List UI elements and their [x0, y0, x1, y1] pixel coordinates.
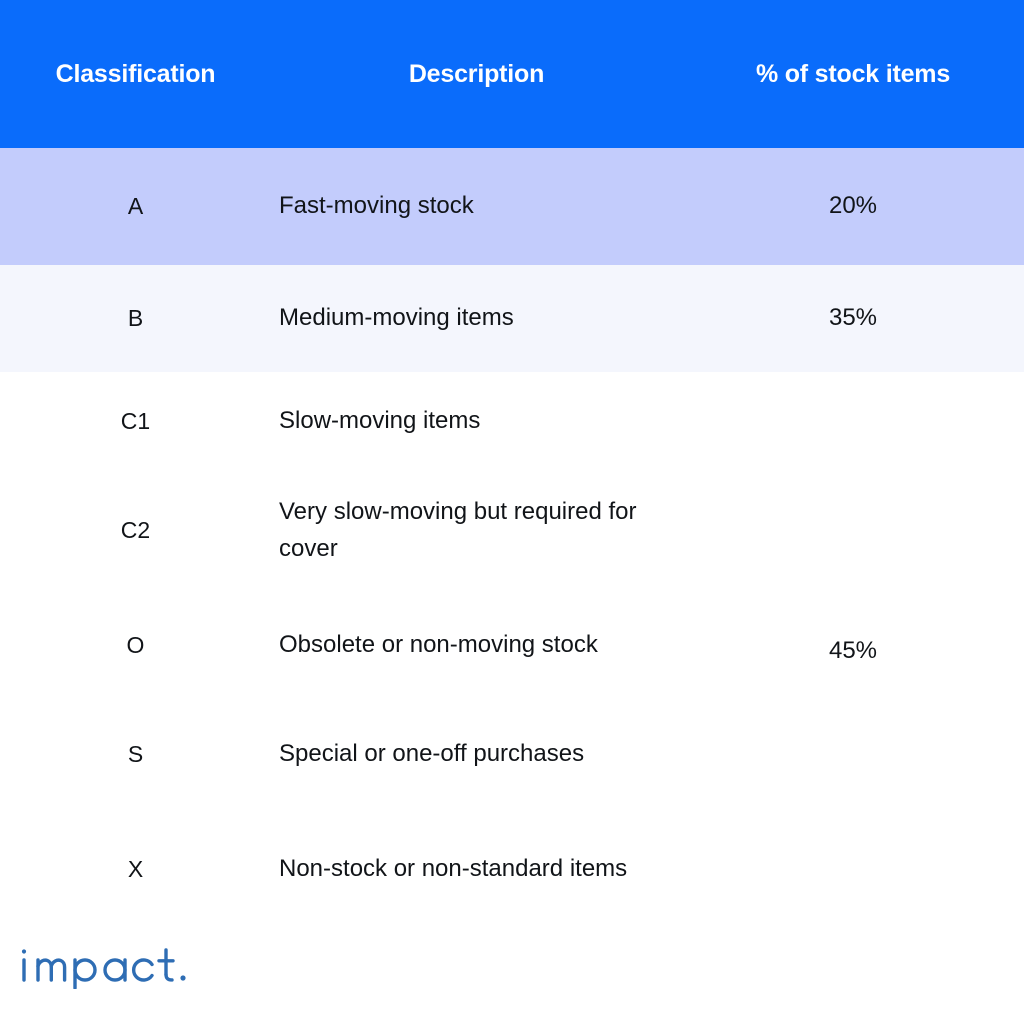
impact-logo [20, 943, 190, 989]
cell-description: Fast-moving stock [271, 188, 682, 224]
column-header-percent-of-stock-items: % of stock items [682, 60, 1024, 89]
cell-description-text: Very slow-moving but required for cover [279, 494, 669, 567]
cell-classification: S [0, 737, 271, 772]
table-header-row: Classification Description % of stock it… [0, 0, 1024, 148]
cell-percent: 20% [682, 188, 1024, 224]
cell-classification: A [0, 189, 271, 224]
impact-logo-period [180, 975, 185, 980]
cell-description-text: Non-stock or non-standard items [279, 851, 669, 887]
cell-percent-merged: 45% [682, 372, 1024, 930]
table-body: A Fast-moving stock 20% B Medium-moving … [0, 148, 1024, 930]
impact-wordmark-icon [20, 943, 190, 989]
cell-classification: O [0, 628, 271, 663]
cell-percent: 35% [682, 300, 1024, 336]
cell-classification: X [0, 852, 271, 887]
cell-description-text: Slow-moving items [279, 403, 669, 439]
cell-description: Non-stock or non-standard items [271, 851, 682, 887]
column-header-description: Description [271, 60, 682, 89]
table-row: A Fast-moving stock 20% [0, 148, 1024, 265]
cell-classification: C1 [0, 404, 271, 439]
cell-description-text: Special or one-off purchases [279, 736, 669, 772]
table-row: S Special or one-off purchases [0, 699, 682, 809]
cell-classification: C2 [0, 513, 271, 548]
cell-description: Slow-moving items [271, 403, 682, 439]
table-row: C1 Slow-moving items [0, 372, 682, 470]
cell-description: Medium-moving items [271, 300, 682, 336]
table-row: O Obsolete or non-moving stock [0, 591, 682, 699]
table-row-group-rows: C1 Slow-moving items C2 Very slow-moving… [0, 372, 682, 930]
cell-description: Obsolete or non-moving stock [271, 627, 682, 663]
impact-logo-i-dot [22, 949, 26, 953]
column-header-classification: Classification [0, 60, 271, 89]
table-row: B Medium-moving items 35% [0, 265, 1024, 372]
cell-classification: B [0, 301, 271, 336]
cell-description-text: Obsolete or non-moving stock [279, 627, 669, 663]
stock-classification-table-page: Classification Description % of stock it… [0, 0, 1024, 1024]
table-row: C2 Very slow-moving but required for cov… [0, 470, 682, 591]
table-row-group-c1-to-x: C1 Slow-moving items C2 Very slow-moving… [0, 372, 1024, 930]
cell-description: Special or one-off purchases [271, 736, 682, 772]
table-row: X Non-stock or non-standard items [0, 809, 682, 930]
cell-description: Very slow-moving but required for cover [271, 494, 682, 567]
